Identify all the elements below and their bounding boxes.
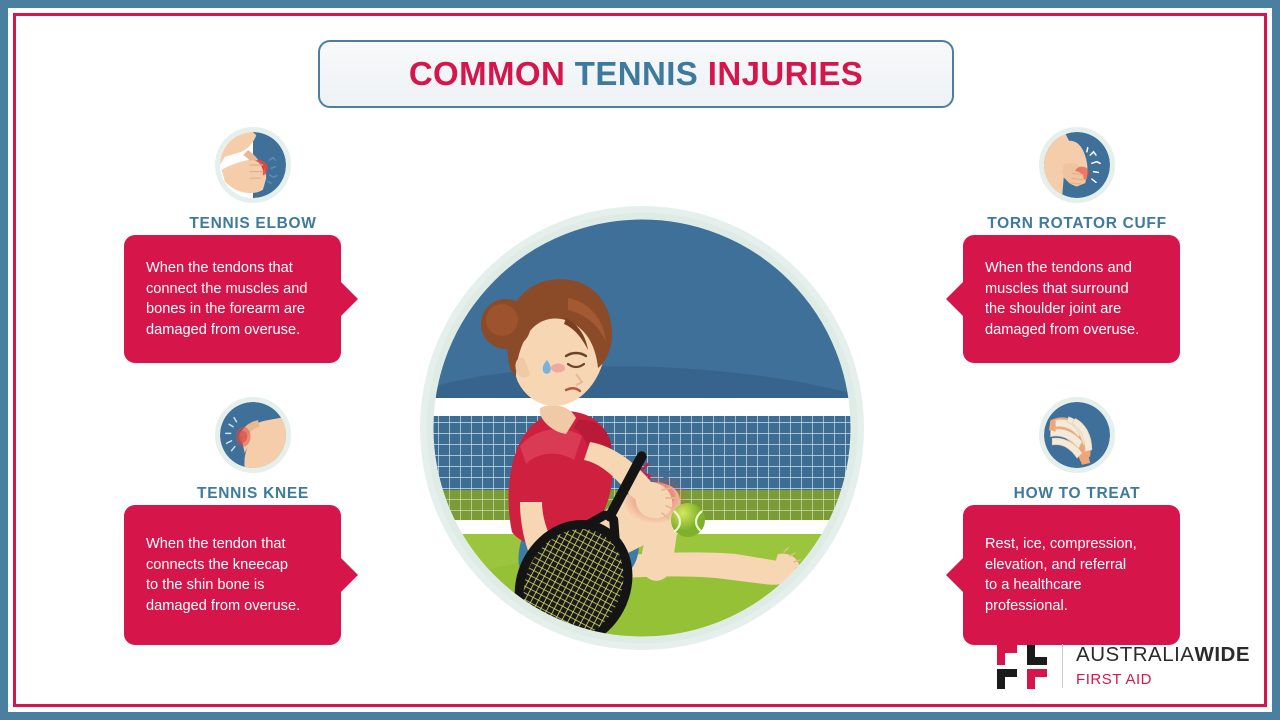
card-text-torn-rotator-cuff: When the tendons and muscles that surrou… <box>985 258 1139 340</box>
title-banner: COMMON TENNIS INJURIES <box>318 40 954 108</box>
logo-line-one: AUSTRALIAWIDE <box>1076 645 1250 666</box>
section-heading-tennis-knee: TENNIS KNEE <box>128 485 378 503</box>
card-tennis-elbow: When the tendons that connect the muscle… <box>124 235 341 363</box>
infographic-page: COMMON TENNIS INJURIES TENNIS ELBOW When… <box>0 0 1280 720</box>
section-heading-torn-rotator-cuff: TORN ROTATOR CUFF <box>952 215 1202 233</box>
australia-wide-first-aid-cross-mark <box>995 641 1049 691</box>
title-word-common: COMMON <box>409 55 565 92</box>
frame-inner-crimson-border: COMMON TENNIS INJURIES TENNIS ELBOW When… <box>13 13 1267 707</box>
card-tennis-knee: When the tendon that connects the kneeca… <box>124 505 341 645</box>
card-text-how-to-treat: Rest, ice, compression, elevation, and r… <box>985 534 1137 616</box>
title-word-injuries: INJURIES <box>708 55 863 92</box>
page-title: COMMON TENNIS INJURIES <box>409 55 863 93</box>
section-heading-how-to-treat: HOW TO TREAT <box>952 485 1202 503</box>
frame-white-gap: COMMON TENNIS INJURIES TENNIS ELBOW When… <box>8 8 1272 712</box>
logo-line-two: FIRST AID <box>1076 672 1250 687</box>
logo-text-wide: WIDE <box>1194 643 1250 666</box>
australia-wide-first-aid-logo: AUSTRALIAWIDE FIRST AID <box>995 638 1250 694</box>
card-torn-rotator-cuff: When the tendons and muscles that surrou… <box>963 235 1180 363</box>
bandaged-knee-icon <box>1039 397 1115 473</box>
logo-text-australia: AUSTRALIA <box>1076 643 1194 666</box>
elbow-pain-icon <box>215 127 291 203</box>
logo-divider <box>1062 644 1063 688</box>
card-text-tennis-elbow: When the tendons that connect the muscle… <box>146 258 307 340</box>
logo-wordmark: AUSTRALIAWIDE FIRST AID <box>1076 645 1250 687</box>
card-text-tennis-knee: When the tendon that connects the kneeca… <box>146 534 300 616</box>
injured-tennis-player-illustration <box>416 202 868 654</box>
knee-pain-icon <box>215 397 291 473</box>
title-word-tennis: TENNIS <box>575 55 698 92</box>
card-how-to-treat: Rest, ice, compression, elevation, and r… <box>963 505 1180 645</box>
shoulder-pain-icon <box>1039 127 1115 203</box>
section-heading-tennis-elbow: TENNIS ELBOW <box>128 215 378 233</box>
